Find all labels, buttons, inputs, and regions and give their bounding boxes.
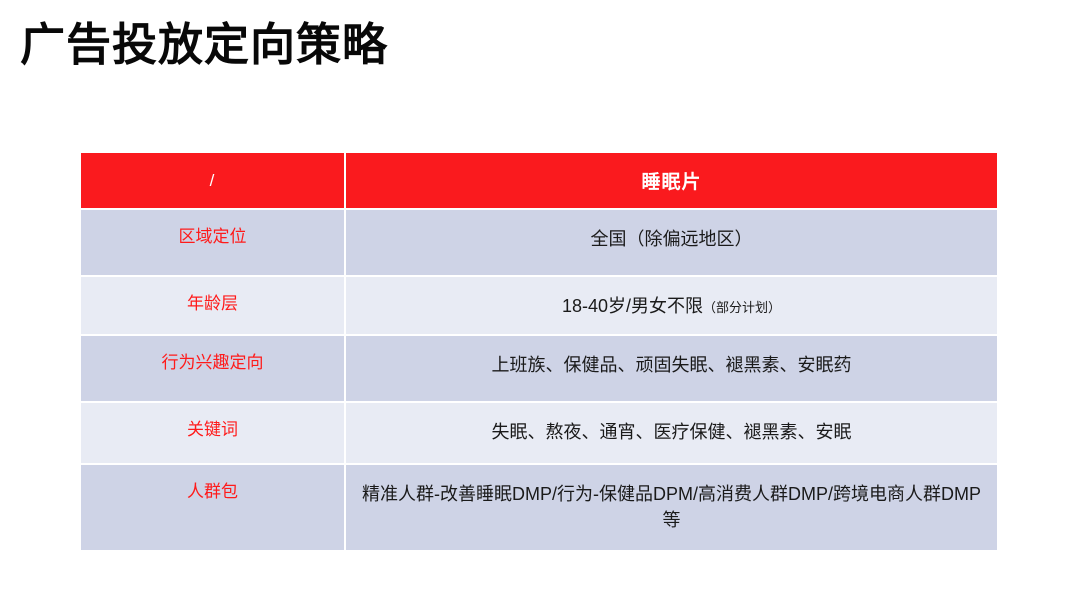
table-row: 人群包 精准人群-改善睡眠DMP/行为-保健品DPM/高消费人群DMP/跨境电商… <box>81 465 997 550</box>
page-title: 广告投放定向策略 <box>20 18 388 72</box>
row-value-text: 上班族、保健品、顽固失眠、褪黑素、安眠药 <box>492 352 852 378</box>
row-value-cell: 上班族、保健品、顽固失眠、褪黑素、安眠药 <box>346 336 997 401</box>
row-value-note: （部分计划） <box>703 300 781 315</box>
row-label-text: 行为兴趣定向 <box>162 352 264 373</box>
row-value-cell: 18-40岁/男女不限（部分计划） <box>346 277 997 334</box>
header-cell-label: / <box>81 153 344 208</box>
row-label-text: 年龄层 <box>187 293 238 314</box>
header-cell-product: 睡眠片 <box>346 153 997 208</box>
row-label-cell: 行为兴趣定向 <box>81 336 344 401</box>
row-label-text: 人群包 <box>187 481 238 502</box>
table-row: 关键词 失眠、熬夜、通宵、医疗保健、褪黑素、安眠 <box>81 403 997 463</box>
row-value-main: 18-40岁/男女不限 <box>562 296 703 316</box>
row-value-cell: 全国（除偏远地区） <box>346 210 997 275</box>
row-label-cell: 关键词 <box>81 403 344 463</box>
row-label-text: 区域定位 <box>179 226 247 247</box>
header-product-text: 睡眠片 <box>641 167 701 194</box>
row-value-text: 精准人群-改善睡眠DMP/行为-保健品DPM/高消费人群DMP/跨境电商人群DM… <box>357 481 987 533</box>
row-value-text: 失眠、熬夜、通宵、医疗保健、褪黑素、安眠 <box>492 419 852 445</box>
row-value-text: 全国（除偏远地区） <box>591 226 753 252</box>
table-header-row: / 睡眠片 <box>81 153 997 208</box>
slide-canvas: 广告投放定向策略 / 睡眠片 区域定位 全国（除偏远地区） 年龄层 18-40岁… <box>0 0 1080 610</box>
row-value-cell: 失眠、熬夜、通宵、医疗保健、褪黑素、安眠 <box>346 403 997 463</box>
header-label-text: / <box>210 171 216 191</box>
table-row: 年龄层 18-40岁/男女不限（部分计划） <box>81 277 997 334</box>
row-value-text: 18-40岁/男女不限（部分计划） <box>562 293 781 319</box>
row-label-cell: 年龄层 <box>81 277 344 334</box>
targeting-strategy-table: / 睡眠片 区域定位 全国（除偏远地区） 年龄层 18-40岁/男女不限（部分计… <box>81 153 997 550</box>
table-row: 区域定位 全国（除偏远地区） <box>81 210 997 275</box>
table-row: 行为兴趣定向 上班族、保健品、顽固失眠、褪黑素、安眠药 <box>81 336 997 401</box>
row-value-cell: 精准人群-改善睡眠DMP/行为-保健品DPM/高消费人群DMP/跨境电商人群DM… <box>346 465 997 550</box>
row-label-cell: 区域定位 <box>81 210 344 275</box>
row-label-cell: 人群包 <box>81 465 344 550</box>
row-label-text: 关键词 <box>187 419 238 440</box>
